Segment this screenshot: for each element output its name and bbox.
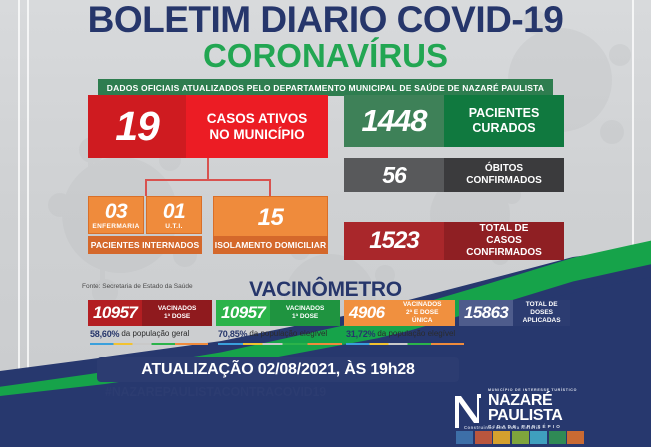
city-logo: MUNICÍPIO DE INTERESSE TURÍSTICO NAZARÉ … <box>452 388 602 446</box>
isolation-footer-label: ISOLAMENTO DOMICILIAR <box>213 236 328 254</box>
internados-footer-label: PACIENTES INTERNADOS <box>88 236 202 254</box>
uti-box: 01 U.T.I. <box>146 196 202 234</box>
logo-tagline: Construindo uma nova história <box>464 425 540 430</box>
vaccine-percentage-3-underline <box>346 343 464 345</box>
enfermaria-box: 03 ENFERMARIA <box>88 196 144 234</box>
total-confirmed-label-line2: CASOS CONFIRMADOS <box>450 235 558 259</box>
update-timestamp-bar: ATUALIZAÇÃO 02/08/2021, ÀS 19h28 <box>97 357 459 382</box>
logo-tile-7 <box>567 431 584 444</box>
active-cases-label: CASOS ATIVOS NO MUNICÍPIO <box>186 95 328 158</box>
vaccine-1-label: VACINADOS 1ª DOSE <box>142 300 212 326</box>
vaccine-1-label-line2: 1ª DOSE <box>164 313 190 321</box>
logo-tile-1 <box>456 431 473 444</box>
stat-card-recovered: 1448 PACIENTES CURADOS <box>344 95 564 147</box>
deaths-label-line1: ÓBITOS <box>466 163 542 175</box>
vacinometro-title: VACINÔMETRO <box>0 278 651 302</box>
vaccine-3-value: 4906 <box>344 300 389 326</box>
vaccine-percentage-1-text: da população geral <box>121 329 189 338</box>
vaccine-4-value: 15863 <box>459 300 513 326</box>
deaths-value: 56 <box>344 158 444 192</box>
vaccine-box-first-dose-general: 10957 VACINADOS 1ª DOSE <box>88 300 212 326</box>
covid-bulletin-infographic: BOLETIM DIARIO COVID-19 CORONAVÍRUS DADO… <box>0 0 651 447</box>
vaccine-1-value: 10957 <box>88 300 142 326</box>
logo-tile-5 <box>530 431 547 444</box>
total-confirmed-label-line1: TOTAL DE <box>450 223 558 235</box>
stat-card-isolation: 15 <box>213 196 328 240</box>
connector-left-drop <box>145 179 147 196</box>
page-title-line1: BOLETIM DIARIO COVID-19 <box>0 0 651 39</box>
deaths-label: ÓBITOS CONFIRMADOS <box>444 158 564 192</box>
logo-photo-tiles <box>456 431 584 444</box>
internados-footer-wrap: PACIENTES INTERNADOS <box>88 236 202 254</box>
vaccine-box-total-doses: 15863 TOTAL DE DOSES APLICADAS <box>459 300 570 326</box>
recovered-value: 1448 <box>344 95 444 147</box>
total-confirmed-value: 1523 <box>344 222 444 260</box>
logo-name-line2: PAULISTA <box>488 408 577 423</box>
vaccine-3-label-line2: 2ª E DOSE ÚNICA <box>395 309 449 325</box>
vaccine-3-label: VACINADOS 2ª E DOSE ÚNICA <box>389 300 455 326</box>
vaccine-percentage-2-value: 70,85% <box>218 329 247 339</box>
vaccine-box-second-dose: 4906 VACINADOS 2ª E DOSE ÚNICA <box>344 300 455 326</box>
vaccine-2-label: VACINADOS 1ª DOSE <box>270 300 340 326</box>
vaccine-percentage-2-underline <box>218 343 342 345</box>
logo-tile-4 <box>512 431 529 444</box>
active-cases-label-line1: CASOS ATIVOS <box>207 111 308 127</box>
connector-vertical-main <box>207 158 209 180</box>
vaccine-percentage-3-value: 31,72% <box>346 329 375 339</box>
deaths-label-line2: CONFIRMADOS <box>466 175 542 187</box>
logo-tile-2 <box>475 431 492 444</box>
total-confirmed-label: TOTAL DE CASOS CONFIRMADOS <box>444 222 564 260</box>
vaccine-4-label-line2: APLICADAS <box>523 317 561 325</box>
vaccine-percentage-2-text: da população elegível <box>249 329 327 338</box>
logo-tile-3 <box>493 431 510 444</box>
vaccine-4-label-line1: TOTAL DE DOSES <box>519 301 564 317</box>
vaccine-percentage-1-value: 58,60% <box>90 329 119 339</box>
vaccine-percentage-1-underline <box>90 343 208 345</box>
recovered-label-line1: PACIENTES <box>469 106 540 121</box>
hashtag-text: #NAZAREPAULISTACONTRACOVID19 <box>105 385 326 399</box>
connector-horizontal <box>145 179 270 181</box>
vaccine-2-label-line2: 1ª DOSE <box>292 313 318 321</box>
vaccine-1-label-line1: VACINADOS <box>158 305 197 313</box>
logo-tile-6 <box>549 431 566 444</box>
stat-card-uti: 01 U.T.I. <box>146 196 202 234</box>
isolation-value: 15 <box>214 203 327 233</box>
stat-card-deaths: 56 ÓBITOS CONFIRMADOS <box>344 158 564 192</box>
isolation-footer-wrap: ISOLAMENTO DOMICILIAR <box>213 236 328 254</box>
stat-card-enfermaria: 03 ENFERMARIA <box>88 196 144 234</box>
vaccine-2-label-line1: VACINADOS <box>286 305 325 313</box>
stat-card-active-cases: 19 CASOS ATIVOS NO MUNICÍPIO <box>88 95 328 158</box>
enfermaria-value: 03 <box>89 201 143 222</box>
logo-name-line1: NAZARÉ <box>488 393 577 408</box>
active-cases-label-line2: NO MUNICÍPIO <box>207 127 308 143</box>
enfermaria-label: ENFERMARIA <box>89 223 143 230</box>
header: BOLETIM DIARIO COVID-19 CORONAVÍRUS DADO… <box>0 0 651 96</box>
vaccine-box-first-dose-eligible: 10957 VACINADOS 1ª DOSE <box>216 300 340 326</box>
isolation-box: 15 <box>213 196 328 240</box>
vaccine-3-label-line1: VACINADOS <box>403 301 442 309</box>
active-cases-value: 19 <box>88 95 186 158</box>
logo-text-block: MUNICÍPIO DE INTERESSE TURÍSTICO NAZARÉ … <box>488 388 577 429</box>
stat-card-total-confirmed: 1523 TOTAL DE CASOS CONFIRMADOS <box>344 222 564 260</box>
recovered-label-line2: CURADOS <box>469 121 540 136</box>
subtitle-banner: DADOS OFICIAIS ATUALIZADOS PELO DEPARTAM… <box>98 79 553 96</box>
vaccine-2-value: 10957 <box>216 300 270 326</box>
uti-label: U.T.I. <box>147 223 201 230</box>
uti-value: 01 <box>147 201 201 222</box>
connector-right-drop <box>269 179 271 196</box>
vaccine-percentage-3-text: da população elegível <box>377 329 455 338</box>
vaccine-4-label: TOTAL DE DOSES APLICADAS <box>513 300 570 326</box>
page-title-line2: CORONAVÍRUS <box>0 39 651 73</box>
recovered-label: PACIENTES CURADOS <box>444 95 564 147</box>
